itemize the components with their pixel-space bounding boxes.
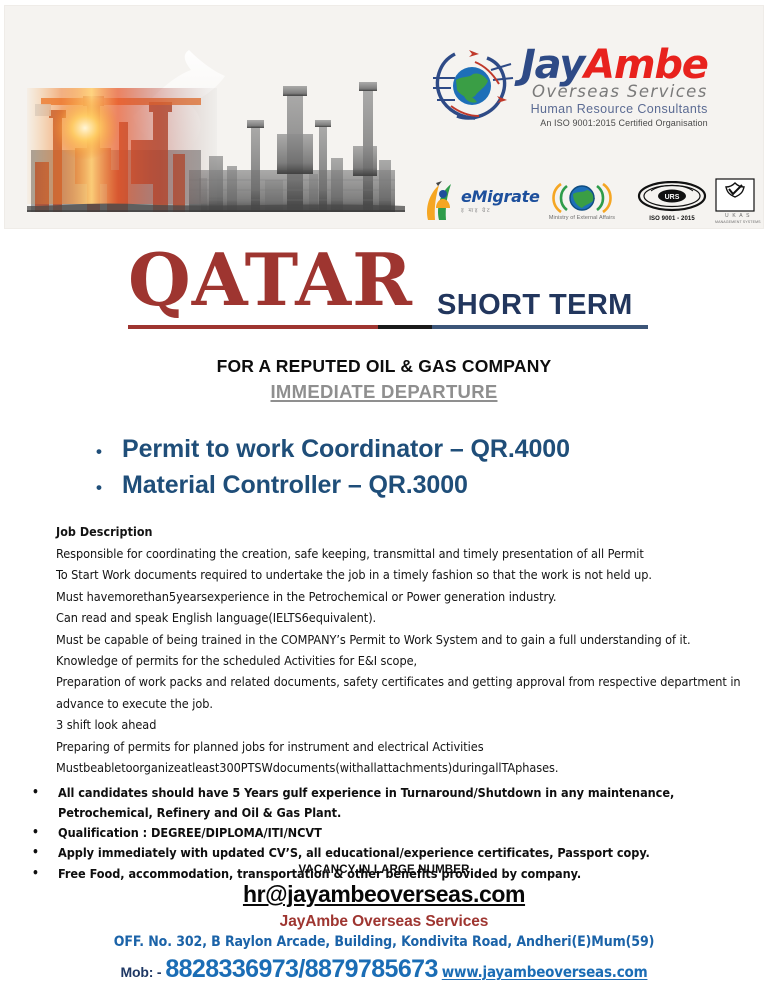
ukas-caption: MANAGEMENT SYSTEMS xyxy=(715,220,761,224)
website-link[interactable]: www.jayambeoverseas.com xyxy=(442,963,648,981)
job-description-line: Responsible for coordinating the creatio… xyxy=(56,543,746,564)
list-item: • Material Controller – QR.3000 xyxy=(96,468,696,504)
position-label: Material Controller – QR.3000 xyxy=(122,468,468,504)
positions-list: • Permit to work Coordinator – QR.4000 •… xyxy=(96,432,696,503)
footer-phone-row: Mob: - 8828336973/8879785673 www.jayambe… xyxy=(0,957,768,982)
logo-wordmark: JayAmbe Overseas Services Human Resource… xyxy=(521,44,708,128)
requirement-text: Qualification : DEGREE/DIPLOMA/ITI/NCVT xyxy=(58,823,744,843)
logo-brand-name: JayAmbe xyxy=(521,42,708,88)
logo-subtitle: Human Resource Consultants xyxy=(521,102,708,116)
emigrate-label: eMigrate xyxy=(461,189,540,205)
logo-tagline: Overseas Services xyxy=(521,82,708,101)
list-item: • All candidates should have 5 Years gul… xyxy=(32,783,744,823)
job-description-line: Can read and speak English language(IELT… xyxy=(56,607,746,628)
list-item: • Qualification : DEGREE/DIPLOMA/ITI/NCV… xyxy=(32,823,744,843)
subtitle-departure-text: IMMEDIATE DEPARTURE xyxy=(270,381,497,402)
emigrate-logo-icon: eMigrate इ माइ ग्रेट xyxy=(423,178,540,224)
bullet-icon: • xyxy=(32,783,58,802)
job-description-line: Mustbeabletoorganizeatleast300PTSWdocume… xyxy=(56,757,746,778)
mobile-numbers[interactable]: 8828336973/8879785673 xyxy=(165,957,437,982)
jayambe-logo: JayAmbe Overseas Services Human Resource… xyxy=(429,44,753,148)
oil-refinery-double-exposure-image xyxy=(13,30,405,222)
job-description-section: Job Description Responsible for coordina… xyxy=(56,524,746,778)
footer-address: OFF. No. 302, B Raylon Arcade, Building,… xyxy=(0,934,768,950)
job-description-line: Knowledge of permits for the scheduled A… xyxy=(56,650,746,671)
mobile-label: Mob: - xyxy=(121,964,162,980)
job-description-line: 3 shift look ahead xyxy=(56,714,746,735)
logo-iso-line: An ISO 9001:2015 Certified Organisation xyxy=(521,118,708,128)
ministry-caption: Ministry of External Affairs xyxy=(545,215,619,221)
logo-brand-ambe: Ambe xyxy=(584,42,708,88)
job-description-line: Must be capable of being trained in the … xyxy=(56,629,746,650)
subtitle-company: FOR A REPUTED OIL & GAS COMPANY xyxy=(0,356,768,377)
bullet-icon: • xyxy=(96,443,122,460)
subtitle-departure: IMMEDIATE DEPARTURE xyxy=(0,381,768,403)
job-description-line: To Start Work documents required to unde… xyxy=(56,564,746,585)
header-band: JayAmbe Overseas Services Human Resource… xyxy=(4,5,764,229)
footer-company-name: JayAmbe Overseas Services xyxy=(0,913,768,931)
svg-text:URS: URS xyxy=(665,194,680,201)
vacancy-note: VACANCY IN LARGE NUMBER xyxy=(0,864,768,876)
recruitment-flyer: JayAmbe Overseas Services Human Resource… xyxy=(0,0,768,994)
title-rule-navy xyxy=(432,325,648,329)
title-rule-red xyxy=(128,325,378,329)
page-title-country: QATAR xyxy=(128,244,413,316)
bullet-icon: • xyxy=(32,823,58,842)
title-row: QATAR SHORT TERM xyxy=(0,248,768,326)
contact-email-text[interactable]: hr@jayambeoverseas.com xyxy=(243,881,525,907)
globe-with-flight-paths-icon xyxy=(429,44,515,130)
title-rule-black xyxy=(378,325,432,329)
page-title-term: SHORT TERM xyxy=(437,291,633,320)
requirement-text: All candidates should have 5 Years gulf … xyxy=(58,783,744,823)
bullet-icon: • xyxy=(96,479,122,496)
list-item: • Permit to work Coordinator – QR.4000 xyxy=(96,432,696,468)
logo-brand-jay: Jay xyxy=(521,42,584,88)
position-label: Permit to work Coordinator – QR.4000 xyxy=(122,432,570,468)
ukas-accreditation-icon: U K A S MANAGEMENT SYSTEMS xyxy=(715,178,761,224)
iso-certification-seal-icon: URS ISO 9001 - 2015 xyxy=(637,178,707,224)
job-description-line: Preparing of permits for planned jobs fo… xyxy=(56,736,746,757)
list-item: • Apply immediately with updated CV’S, a… xyxy=(32,843,744,863)
job-description-line: Must havemorethan5yearsexperience in the… xyxy=(56,586,746,607)
ministry-external-affairs-icon: Ministry of External Affairs xyxy=(545,178,619,224)
certification-logo-row: eMigrate इ माइ ग्रेट xyxy=(419,178,763,226)
iso-label: ISO 9001 - 2015 xyxy=(637,216,707,222)
job-description-heading: Job Description xyxy=(56,524,746,539)
job-description-line: Preparation of work packs and related do… xyxy=(56,671,746,714)
emigrate-sublabel: इ माइ ग्रेट xyxy=(461,206,540,214)
contact-email[interactable]: hr@jayambeoverseas.com xyxy=(0,881,768,908)
bullet-icon: • xyxy=(32,843,58,862)
ukas-label: U K A S xyxy=(715,213,761,219)
requirement-text: Apply immediately with updated CV’S, all… xyxy=(58,843,744,863)
